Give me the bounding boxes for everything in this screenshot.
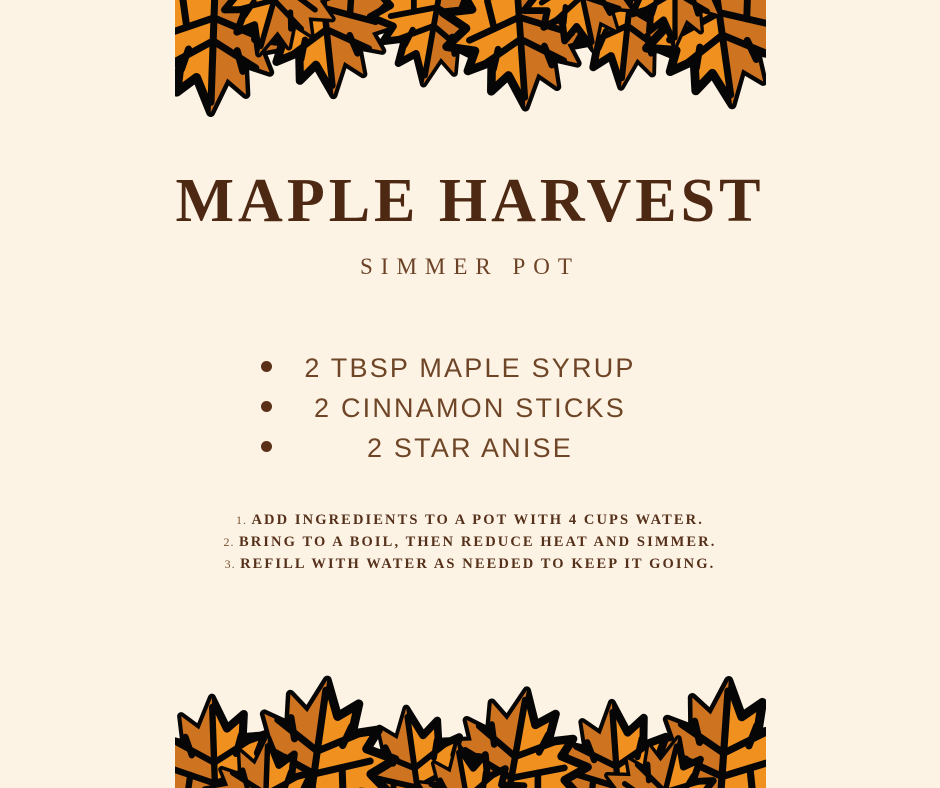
recipe-poster: MAPLE HARVEST SIMMER POT 2 TBSP MAPLE SY… bbox=[0, 0, 940, 788]
maple-leaf-border-top-graphic bbox=[175, 0, 766, 190]
instruction-number: 1. bbox=[236, 513, 247, 527]
headline-block: MAPLE HARVEST SIMMER POT bbox=[0, 170, 940, 280]
maple-leaf-border-bottom bbox=[175, 608, 766, 788]
list-item: 3. REFILL WITH WATER AS NEEDED TO KEEP I… bbox=[0, 554, 940, 574]
instruction-label: ADD INGREDIENTS TO A POT WITH 4 CUPS WAT… bbox=[251, 512, 704, 528]
list-item: 2 CINNAMON STICKS bbox=[0, 388, 940, 428]
page-title: MAPLE HARVEST bbox=[0, 170, 940, 232]
ingredients-list: 2 TBSP MAPLE SYRUP 2 CINNAMON STICKS 2 S… bbox=[0, 348, 940, 468]
ingredient-label: 2 TBSP MAPLE SYRUP bbox=[304, 348, 635, 388]
list-item: 2 STAR ANISE bbox=[0, 428, 940, 468]
maple-leaf-border-bottom-graphic bbox=[175, 608, 766, 788]
list-item: 2 TBSP MAPLE SYRUP bbox=[0, 348, 940, 388]
list-item: 2. BRING TO A BOIL, THEN REDUCE HEAT AND… bbox=[0, 532, 940, 552]
ingredient-label: 2 CINNAMON STICKS bbox=[314, 388, 626, 428]
ingredient-label: 2 STAR ANISE bbox=[367, 428, 573, 468]
instruction-number: 2. bbox=[224, 535, 235, 549]
bullet-dot-icon bbox=[261, 441, 272, 452]
instructions-list: 1. ADD INGREDIENTS TO A POT WITH 4 CUPS … bbox=[0, 510, 940, 576]
instruction-label: BRING TO A BOIL, THEN REDUCE HEAT AND SI… bbox=[239, 534, 717, 550]
list-item: 1. ADD INGREDIENTS TO A POT WITH 4 CUPS … bbox=[0, 510, 940, 530]
instruction-number: 3. bbox=[225, 557, 236, 571]
bullet-dot-icon bbox=[261, 401, 272, 412]
maple-leaf-border-top bbox=[175, 0, 766, 190]
bullet-dot-icon bbox=[261, 361, 272, 372]
instruction-label: REFILL WITH WATER AS NEEDED TO KEEP IT G… bbox=[240, 556, 715, 572]
page-subtitle: SIMMER POT bbox=[0, 254, 940, 280]
